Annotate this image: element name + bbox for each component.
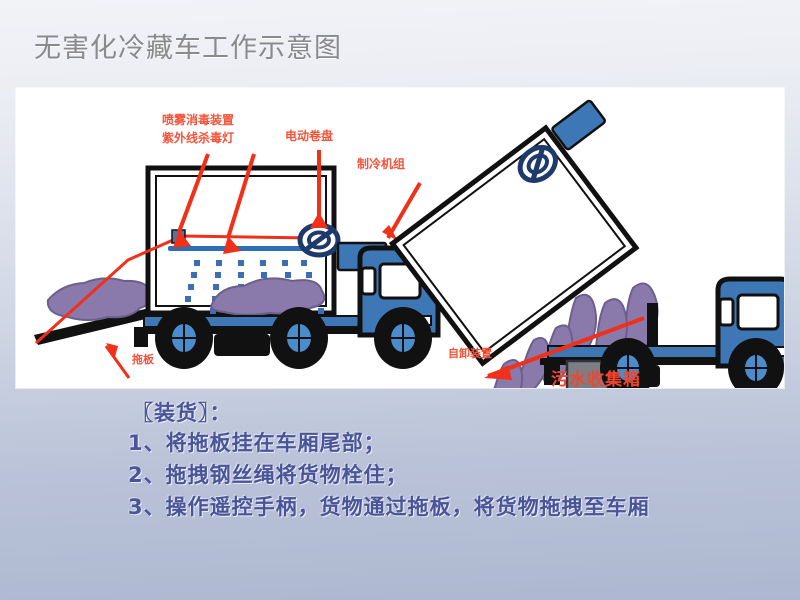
page-title: 无害化冷藏车工作示意图 xyxy=(34,26,342,65)
step-item-3: 3、操作遥控手柄，货物通过拖板，将货物拖拽至车厢 xyxy=(128,492,792,524)
right-cab-window-main xyxy=(738,295,778,329)
spray-bar xyxy=(168,246,318,251)
loading-steps-block: 〖装货〗： 1、将拖板挂在车厢尾部； 2、拖拽钢丝绳将货物栓住； 3、操作遥控手… xyxy=(132,400,792,523)
slide-canvas: 无害化冷藏车工作示意图 xyxy=(0,0,800,600)
left-fuel-tank xyxy=(214,334,270,356)
left-chassis-hook xyxy=(134,327,148,347)
steps-heading: 〖装货〗： xyxy=(132,400,792,428)
label-electric-reel: 电动卷盘 xyxy=(285,130,333,143)
label-uv-lamp: 紫外线杀毒灯 xyxy=(162,132,234,145)
diagram-panel-inner: 喷雾消毒装置 紫外线杀毒灯 电动卷盘 制冷机组 拖板 自卸装置 xyxy=(16,88,784,388)
left-cab-window-side xyxy=(362,268,375,294)
left-truck-group xyxy=(34,150,438,378)
arrow-to-drag-board xyxy=(106,346,129,378)
label-spray-disinfect: 喷雾消毒装置 xyxy=(162,114,234,127)
label-sewage-collection-box: 污水收集箱 xyxy=(551,371,641,390)
step-item-1: 1、将拖板挂在车厢尾部； xyxy=(128,428,792,460)
label-refrigeration-unit: 制冷机组 xyxy=(357,158,405,171)
left-wheel-front xyxy=(270,307,328,369)
winch-cable-red-top xyxy=(182,236,313,238)
label-drag-board: 拖板 xyxy=(132,354,154,366)
truck-illustration xyxy=(16,88,784,388)
electric-reel-icon xyxy=(300,225,338,255)
right-cab-window-side xyxy=(720,299,733,325)
left-wheel-cab xyxy=(374,307,432,369)
label-self-unload-device: 自卸装置 xyxy=(448,348,492,360)
right-truck-group xyxy=(392,100,784,388)
diagram-panel: 喷雾消毒装置 紫外线杀毒灯 电动卷盘 制冷机组 拖板 自卸装置 xyxy=(16,88,784,388)
step-item-2: 2、拖拽钢丝绳将货物栓住； xyxy=(128,460,792,492)
left-wheel-rear xyxy=(155,307,213,369)
